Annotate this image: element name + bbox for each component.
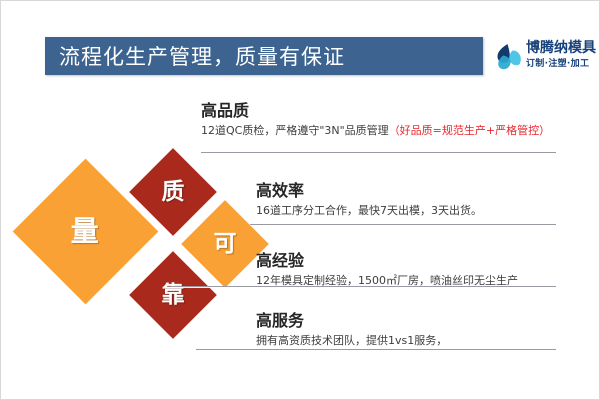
feature-block-service: 高服务 拥有高资质技术团队，提供1vs1服务， [256, 311, 447, 349]
feature-block-efficiency: 高效率 16道工序分工合作，最快7天出模，3天出货。 [256, 181, 482, 219]
logo-tagline: 订制·注塑·加工 [526, 57, 596, 71]
feature-desc-efficiency: 16道工序分工合作，最快7天出模，3天出货。 [256, 202, 482, 219]
botengna-droplet-logo-icon [493, 41, 525, 73]
header-bar: 流程化生产管理，质量有保证 [45, 37, 483, 75]
slide-canvas: 流程化生产管理，质量有保证 博腾纳模具 订制·注塑·加工 量 质 可 靠 高品质… [0, 0, 600, 400]
feature-block-experience: 高经验 12年模具定制经验，1500㎡厂房，喷油丝印无尘生产 [256, 251, 518, 289]
logo-company-name: 博腾纳模具 [526, 39, 596, 57]
diamond-liang: 量 [13, 159, 159, 305]
diamond-liang-label: 量 [71, 217, 99, 245]
feature-desc-quality: 12道QC质检，严格遵守"3N"品质管理（好品质=规范生产+严格管控） [201, 122, 550, 139]
divider-experience [171, 286, 556, 287]
feature-title-experience: 高经验 [256, 251, 518, 271]
feature-title-quality: 高品质 [201, 101, 550, 121]
brand-logo: 博腾纳模具 订制·注塑·加工 [493, 37, 597, 77]
diamond-ke-label: 可 [214, 233, 237, 256]
divider-quality [201, 152, 556, 153]
feature-desc-service: 拥有高资质技术团队，提供1vs1服务， [256, 332, 447, 349]
logo-text-block: 博腾纳模具 订制·注塑·加工 [526, 39, 596, 71]
page-title: 流程化生产管理，质量有保证 [59, 41, 345, 71]
feature-title-service: 高服务 [256, 311, 447, 331]
feature-block-quality: 高品质 12道QC质检，严格遵守"3N"品质管理（好品质=规范生产+严格管控） [201, 101, 550, 139]
diamond-zhi-label: 质 [162, 181, 185, 204]
feature-desc-quality-main: 12道QC质检，严格遵守"3N"品质管理 [201, 124, 389, 137]
feature-title-efficiency: 高效率 [256, 181, 482, 201]
divider-efficiency [250, 224, 556, 225]
divider-service [196, 349, 556, 350]
feature-desc-quality-highlight: （好品质=规范生产+严格管控） [389, 124, 550, 137]
